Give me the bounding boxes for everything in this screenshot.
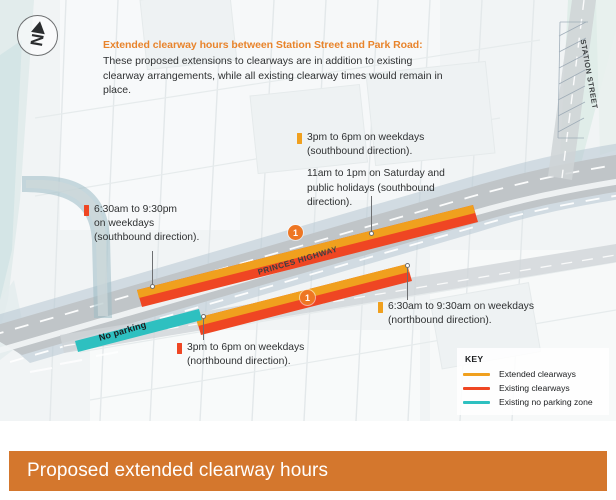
leader-line-northbound-3pm	[203, 318, 204, 340]
callout-southbound-saturday-text: 11am to 1pm on Saturday and public holid…	[307, 167, 447, 210]
callout-northbound-3pm: 3pm to 6pm on weekdays (northbound direc…	[177, 341, 337, 369]
callout-southbound-630am-text: 6:30am to 9:30pm on weekdays (southbound…	[94, 203, 199, 246]
banner-title: Proposed extended clearway hours	[27, 460, 328, 482]
legend-swatch-icon	[463, 401, 490, 404]
leader-line-northbound-630am	[407, 268, 408, 300]
legend-item-label: Extended clearways	[499, 369, 576, 380]
callout-northbound-630am-text: 6:30am to 9:30am on weekdays (northbound…	[388, 300, 534, 328]
callout-swatch-icon	[84, 205, 89, 216]
leader-line-southbound-630am	[152, 251, 153, 286]
legend-item-label: Existing no parking zone	[499, 397, 593, 408]
map-figure: N Extended clearway hours between Statio…	[0, 0, 616, 421]
callout-southbound-3pm-text: 3pm to 6pm on weekdays (southbound direc…	[307, 131, 424, 159]
leader-dot-southbound-630am	[150, 284, 155, 289]
legend-swatch-icon	[463, 387, 490, 390]
svg-text:N: N	[26, 32, 47, 47]
route-shield-northbound: 1	[300, 290, 315, 305]
north-arrow-icon: N	[17, 15, 58, 56]
callout-swatch-icon	[177, 343, 182, 354]
leader-dot-northbound-3pm	[201, 314, 206, 319]
intro-text-block: Extended clearway hours between Station …	[103, 38, 455, 98]
intro-body: These proposed extensions to clearways a…	[103, 54, 455, 98]
leader-dot-northbound-630am	[405, 263, 410, 268]
section-banner: Proposed extended clearway hours	[9, 451, 607, 491]
callout-northbound-630am: 6:30am to 9:30am on weekdays (northbound…	[378, 300, 553, 328]
leader-dot-southbound-3pm	[369, 231, 374, 236]
callout-northbound-3pm-text: 3pm to 6pm on weekdays (northbound direc…	[187, 341, 304, 369]
intro-title: Extended clearway hours between Station …	[103, 38, 455, 53]
map-legend: KEY Extended clearways Existing clearway…	[457, 348, 609, 415]
legend-item-no-parking-zone: Existing no parking zone	[463, 397, 603, 408]
callout-swatch-icon	[297, 133, 302, 144]
route-shield-southbound: 1	[288, 225, 303, 240]
callout-southbound-3pm: 3pm to 6pm on weekdays (southbound direc…	[297, 131, 447, 210]
leader-line-southbound-3pm	[371, 196, 372, 233]
legend-item-extended-clearways: Extended clearways	[463, 369, 603, 380]
legend-swatch-icon	[463, 373, 490, 376]
legend-item-label: Existing clearways	[499, 383, 570, 394]
legend-item-existing-clearways: Existing clearways	[463, 383, 603, 394]
callout-swatch-icon	[378, 302, 383, 313]
legend-title: KEY	[465, 354, 603, 364]
callout-southbound-630am: 6:30am to 9:30pm on weekdays (southbound…	[84, 203, 229, 246]
